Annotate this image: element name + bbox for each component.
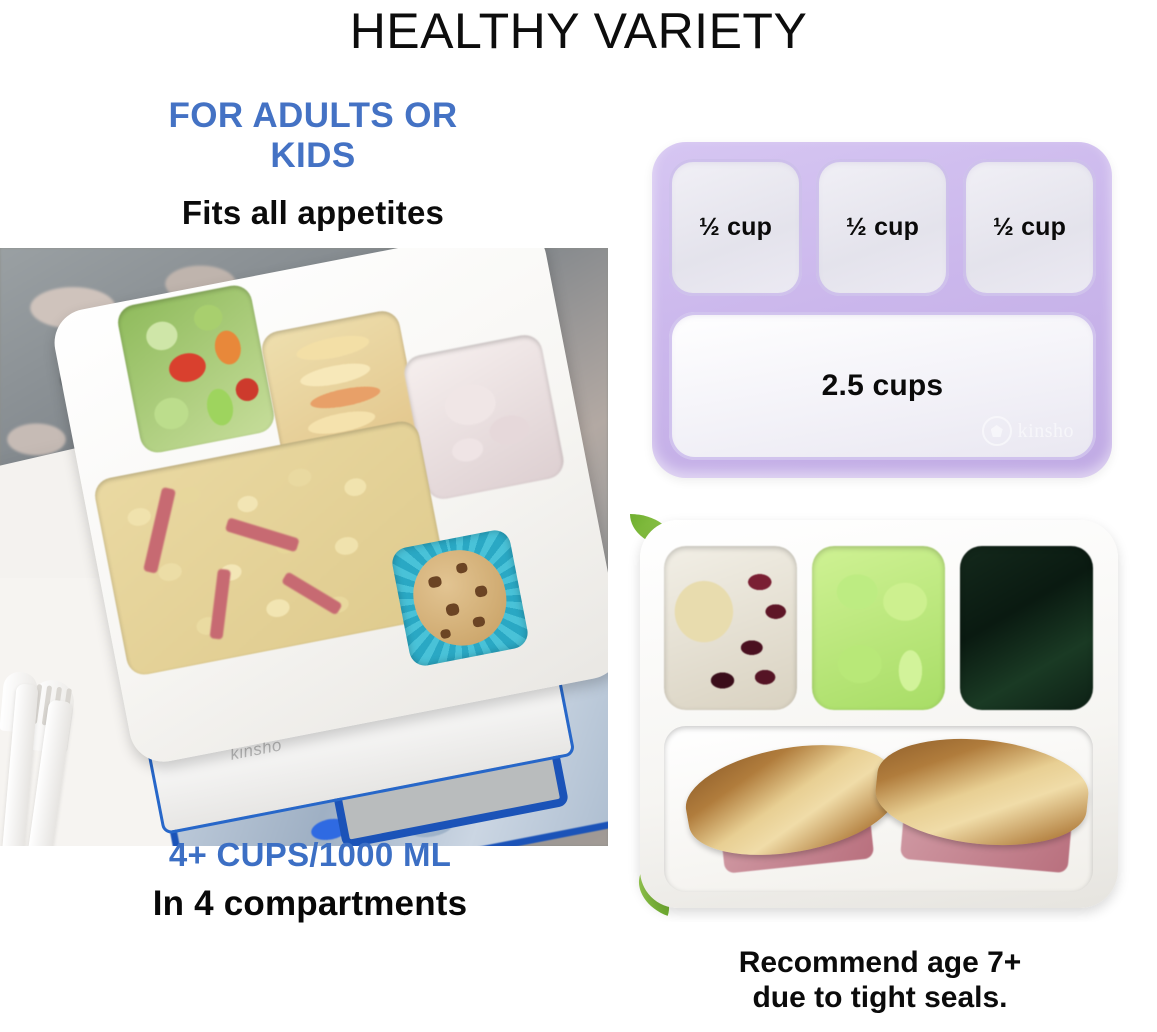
age-note-line-1: Recommend age 7+ [630,945,1130,980]
compartment-label: ½ cup [993,213,1066,242]
compartment-seaweed-nori [960,546,1093,710]
blue-silicone-cup [390,528,531,669]
kinsho-logo-icon [982,416,1012,446]
chocolate-chip [472,616,486,628]
compartment-main-2-5-cups: 2.5 cups kinsho [669,312,1096,460]
salami-strip [143,487,176,574]
kicker-line-1: FOR ADULTS OR [48,96,578,136]
salami-strip [210,569,231,640]
kinsho-brand-mark: kinsho [982,416,1074,446]
compartment-half-cup-3: ½ cup [963,159,1096,296]
salami-strip [281,571,343,615]
capacity-headline: 4+ CUPS/1000 ML [40,836,580,874]
compartment-cookie-and-cranberries [664,546,797,710]
chocolate-chip [428,575,443,588]
compartment-label: ½ cup [846,213,919,242]
compartment-vegetables [115,282,277,455]
kinsho-wordmark: kinsho [1018,420,1074,443]
capacity-subtext: In 4 compartments [40,884,580,924]
compartment-pretzel-sandwiches [664,726,1093,892]
age-note-line-2: due to tight seals. [630,980,1130,1015]
chocolate-chip-cookie [406,542,515,654]
white-bento-box-2 [640,520,1118,908]
gem-icon [991,425,1003,437]
chocolate-chip [455,562,468,574]
kicker-line-2: KIDS [48,136,578,176]
compartment-half-cup-2: ½ cup [816,159,949,296]
compartment-half-cup-1: ½ cup [669,159,802,296]
salami-strip [225,517,300,552]
left-product-photo: kinsho [0,248,608,846]
kicker-heading: FOR ADULTS OR KIDS [48,96,578,176]
compartment-cucumber-slices [812,546,945,710]
purple-bento-diagram: ½ cup ½ cup ½ cup 2.5 cups kinsho [652,142,1112,478]
compartment-label: 2.5 cups [822,369,944,403]
compartment-label: ½ cup [699,213,772,242]
subtitle-fits-all-appetites: Fits all appetites [48,194,578,232]
chocolate-chip [445,602,460,616]
page-title: HEALTHY VARIETY [0,2,1157,60]
chocolate-chip [474,585,488,598]
right-product-photo [628,508,1132,922]
chocolate-chip [440,629,452,640]
age-recommendation-note: Recommend age 7+ due to tight seals. [630,945,1130,1015]
